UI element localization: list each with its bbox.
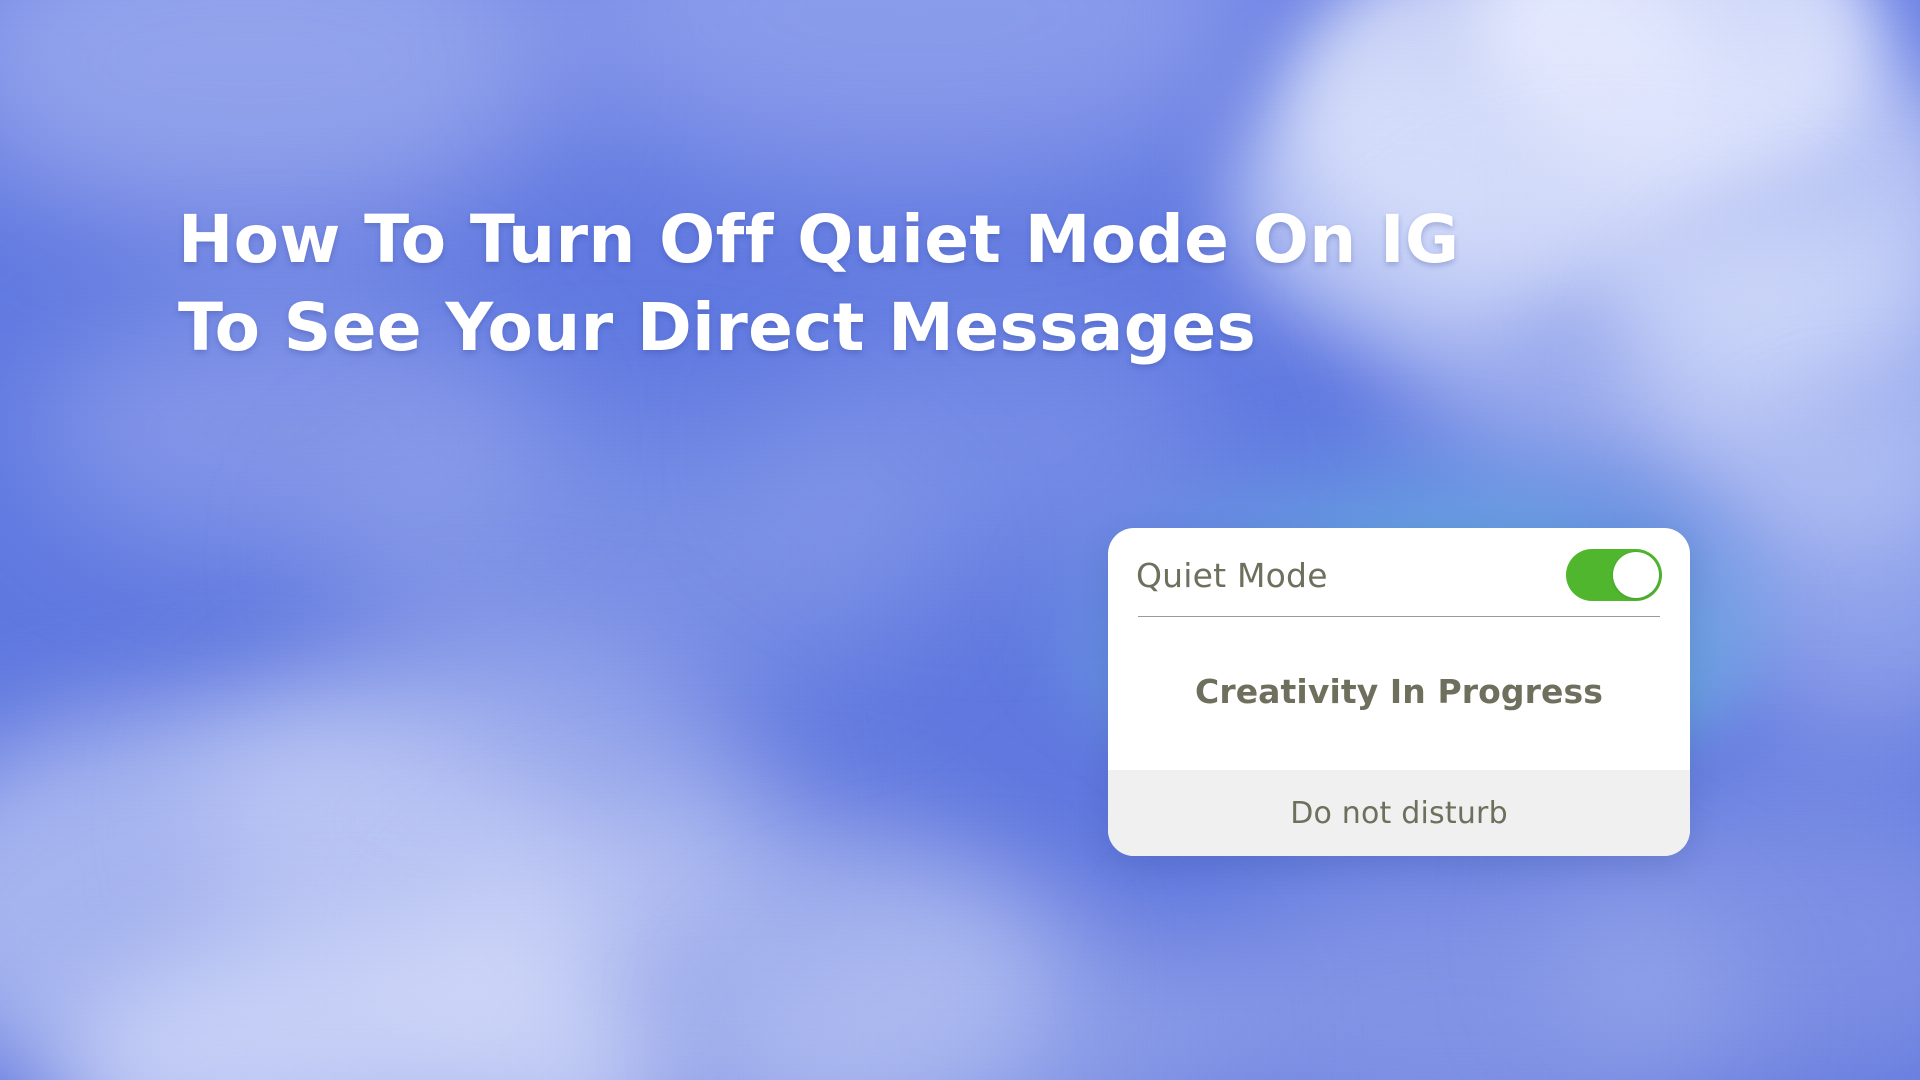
cloud-bank-lower-c [420,810,1060,1080]
cumulus-cloud-b [1480,0,1880,190]
quiet-mode-card-container: Quiet Mode Creativity In Progress Do not… [1108,528,1690,856]
cumulus-cloud-d [1560,30,1920,370]
card-divider [1138,616,1660,617]
quiet-mode-toggle[interactable] [1566,549,1662,601]
cloud-bank-lower-b [200,640,760,1000]
cumulus-cloud-g [1700,430,1920,730]
quiet-mode-card: Quiet Mode Creativity In Progress Do not… [1108,528,1690,856]
cloud-bank-lower-d [60,930,660,1080]
cloud-bank-lower-a [0,700,600,1080]
do-not-disturb-footer[interactable]: Do not disturb [1108,770,1690,856]
do-not-disturb-label: Do not disturb [1290,796,1508,831]
cloud-bank-lower-e [720,900,1240,1080]
cloud-wisp-top-middle [560,0,1260,180]
status-message: Creativity In Progress [1195,672,1603,711]
toggle-knob-icon [1613,552,1659,598]
quiet-mode-label: Quiet Mode [1136,556,1328,595]
card-body: Quiet Mode Creativity In Progress [1108,528,1690,770]
page-title: How To Turn Off Quiet Mode On IG To See … [178,196,1598,372]
cloud-wisp-mid-b [330,420,930,700]
cloud-bank-lower-right-a [1180,860,1740,1080]
status-area: Creativity In Progress [1136,617,1662,770]
quiet-mode-row: Quiet Mode [1136,528,1662,616]
cumulus-cloud-f [1640,220,1920,550]
